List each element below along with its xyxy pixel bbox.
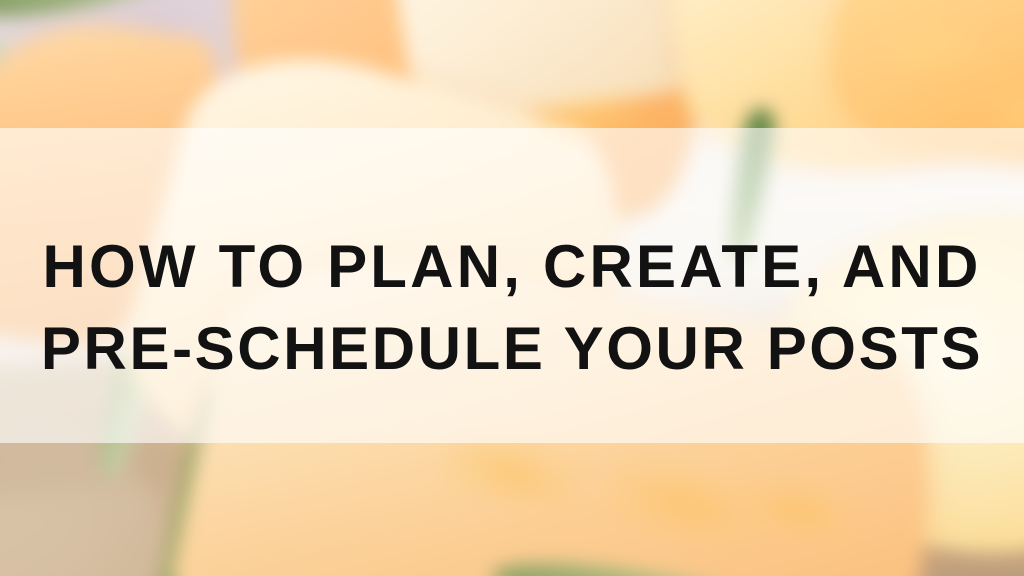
headline-line-1: How to Plan, Create, and [0,226,1024,308]
featured-image-canvas: How to Plan, Create, and Pre-Schedule Yo… [0,0,1024,576]
headline-line-2: Pre-Schedule Your Posts [0,308,1024,390]
headline-text: How to Plan, Create, and Pre-Schedule Yo… [0,226,1024,390]
